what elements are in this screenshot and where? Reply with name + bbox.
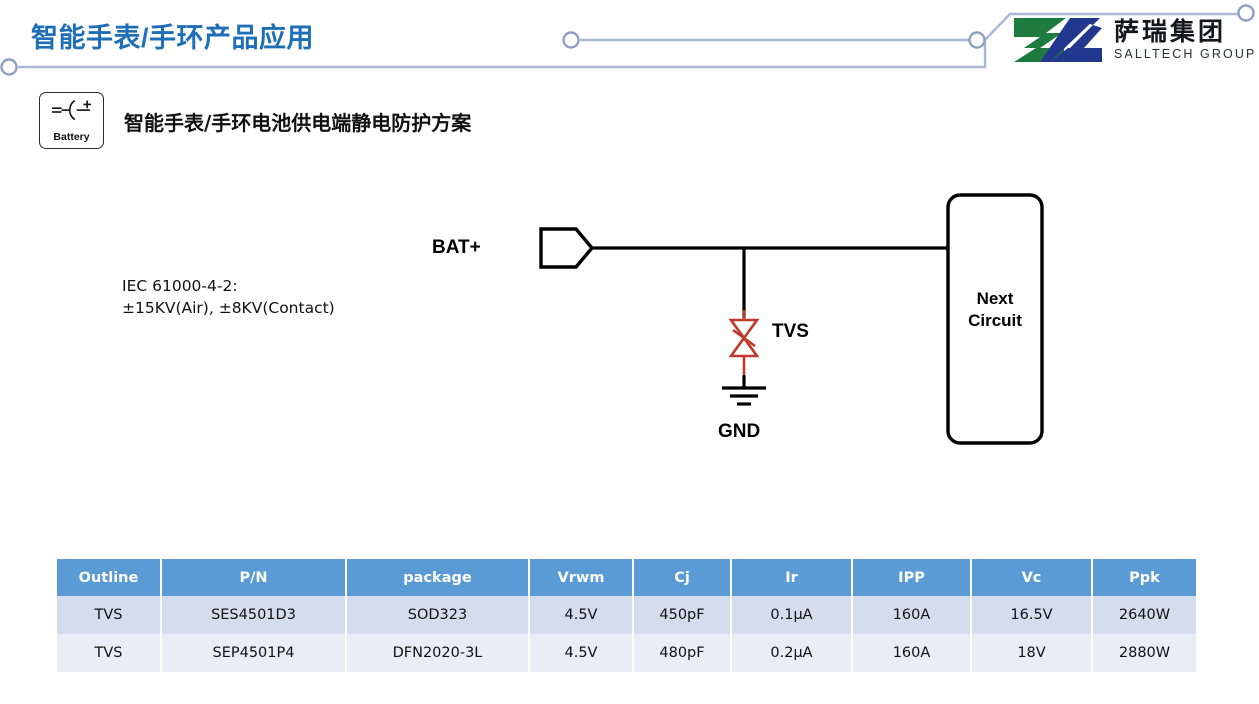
next-circuit-label: Next Circuit (948, 288, 1042, 332)
tvs-label: TVS (772, 321, 809, 343)
cell-pn: SEP4501P4 (161, 634, 346, 672)
table-header-row: Outline P/N package Vrwm Cj Ir IPP Vc Pp… (57, 559, 1196, 596)
column-header-ir: Ir (731, 559, 852, 596)
iec-spec-line-1: IEC 61000-4-2: (122, 275, 335, 297)
slide-page: 智能手表/手环产品应用 萨瑞集团 SALLTECH GROUP (0, 0, 1259, 704)
iec-spec-note: IEC 61000-4-2: ±15KV(Air), ±8KV(Contact) (122, 275, 335, 320)
cell-ppk: 2880W (1092, 634, 1196, 672)
cell-vrwm: 4.5V (529, 634, 633, 672)
cell-vc: 18V (971, 634, 1092, 672)
cell-cj: 450pF (633, 596, 731, 634)
cell-vrwm: 4.5V (529, 596, 633, 634)
column-header-package: package (346, 559, 529, 596)
logo-name-cn: 萨瑞集团 (1114, 19, 1256, 44)
column-header-ipp: IPP (852, 559, 971, 596)
gnd-symbol (722, 375, 766, 404)
page-title: 智能手表/手环产品应用 (31, 16, 314, 55)
deco-node-mid (564, 33, 579, 48)
column-header-outline: Outline (57, 559, 161, 596)
cell-ir: 0.2μA (731, 634, 852, 672)
column-header-cj: Cj (633, 559, 731, 596)
cell-package: SOD323 (346, 596, 529, 634)
cell-outline: TVS (57, 634, 161, 672)
bat-plus-label: BAT+ (432, 237, 481, 259)
cell-pn: SES4501D3 (161, 596, 346, 634)
column-header-vc: Vc (971, 559, 1092, 596)
brand-logo: 萨瑞集团 SALLTECH GROUP (1010, 14, 1256, 66)
column-header-ppk: Ppk (1092, 559, 1196, 596)
column-header-vrwm: Vrwm (529, 559, 633, 596)
battery-icon: Battery (39, 92, 104, 149)
logo-name-en: SALLTECH GROUP (1114, 48, 1256, 61)
battery-symbol-icon (40, 93, 103, 131)
cell-package: DFN2020-3L (346, 634, 529, 672)
cell-outline: TVS (57, 596, 161, 634)
column-header-pn: P/N (161, 559, 346, 596)
gnd-label: GND (718, 421, 760, 443)
table-row: TVS SEP4501P4 DFN2020-3L 4.5V 480pF 0.2μ… (57, 634, 1196, 672)
cell-cj: 480pF (633, 634, 731, 672)
cell-ipp: 160A (852, 634, 971, 672)
bat-connector-shape (541, 229, 592, 267)
specification-table: Outline P/N package Vrwm Cj Ir IPP Vc Pp… (57, 559, 1196, 672)
cell-vc: 16.5V (971, 596, 1092, 634)
cell-ir: 0.1μA (731, 596, 852, 634)
deco-node-left (2, 60, 17, 75)
table-row: TVS SES4501D3 SOD323 4.5V 450pF 0.1μA 16… (57, 596, 1196, 634)
cell-ppk: 2640W (1092, 596, 1196, 634)
battery-icon-label: Battery (40, 131, 103, 143)
circuit-diagram (0, 170, 1259, 490)
deco-node-right (970, 33, 985, 48)
iec-spec-line-2: ±15KV(Air), ±8KV(Contact) (122, 297, 335, 319)
tvs-diode-symbol (731, 310, 757, 382)
cell-ipp: 160A (852, 596, 971, 634)
salltech-logo-icon (1010, 14, 1106, 66)
section-title: 智能手表/手环电池供电端静电防护方案 (124, 107, 471, 136)
